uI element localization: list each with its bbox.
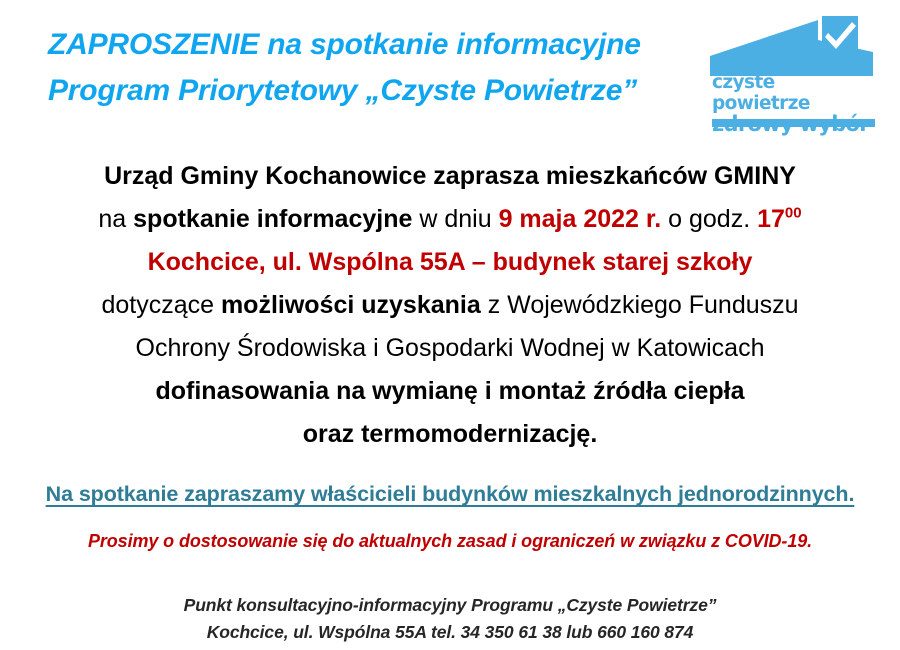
- body-line-2-hour-minutes: 00: [785, 205, 802, 222]
- body-line-2-hour: 17: [757, 205, 785, 233]
- house-roof-with-checkmark-icon: [710, 16, 875, 76]
- body-line-5: Ochrony Środowiska i Gospodarki Wodnej w…: [0, 327, 900, 370]
- body-line-2-part-3: w dniu: [412, 205, 498, 233]
- footer-line-1: Punkt konsultacyjno-informacyjny Program…: [0, 592, 900, 619]
- poster-title-line-1: ZAPROSZENIE na spotkanie informacyjne: [48, 22, 641, 68]
- body-line-3-venue: Kochcice, ul. Wspólna 55A – budynek star…: [0, 241, 900, 284]
- body-line-2-part-1: na: [98, 205, 133, 233]
- header-title-group: ZAPROSZENIE na spotkanie informacyjne Pr…: [0, 14, 641, 114]
- covid-note-text: Prosimy o dostosowanie się do aktualnych…: [88, 531, 812, 551]
- body-line-4-part-3: z Wojewódzkiego Funduszu: [481, 291, 799, 319]
- body-line-1: Urząd Gminy Kochanowice zaprasza mieszka…: [0, 155, 900, 198]
- body-line-6: dofinasowania na wymianę i montaż źródła…: [0, 370, 900, 413]
- invitation-poster: ZAPROSZENIE na spotkanie informacyjne Pr…: [0, 0, 900, 650]
- body-line-2: na spotkanie informacyjne w dniu 9 maja …: [0, 198, 900, 241]
- poster-body: Urząd Gminy Kochanowice zaprasza mieszka…: [0, 155, 900, 456]
- logo-underline-bar: [712, 119, 875, 127]
- notice-block: Na spotkanie zapraszamy właścicieli budy…: [0, 482, 900, 507]
- body-line-7: oraz termomodernizację.: [0, 413, 900, 456]
- notice-text: Na spotkanie zapraszamy właścicieli budy…: [46, 482, 855, 507]
- body-line-2-part-5: o godz.: [661, 205, 757, 233]
- body-line-2-part-2: spotkanie informacyjne: [133, 205, 412, 233]
- poster-header: ZAPROSZENIE na spotkanie informacyjne Pr…: [0, 14, 900, 139]
- poster-title-line-2: Program Priorytetowy „Czyste Powietrze”: [48, 68, 641, 114]
- covid-note-block: Prosimy o dostosowanie się do aktualnych…: [0, 531, 900, 552]
- footer-line-2: Kochcice, ul. Wspólna 55A tel. 34 350 61…: [0, 619, 900, 646]
- body-line-4: dotyczące możliwości uzyskania z Wojewód…: [0, 284, 900, 327]
- body-line-4-part-2: możliwości uzyskania: [221, 291, 481, 319]
- body-line-4-part-1: dotyczące: [101, 291, 221, 319]
- logo-text-line-1: czyste powietrze: [712, 72, 875, 114]
- poster-footer: Punkt konsultacyjno-informacyjny Program…: [0, 592, 900, 646]
- body-line-2-date: 9 maja 2022 r.: [499, 205, 662, 233]
- czyste-powietrze-logo: czyste powietrze zdrowy wybór: [702, 16, 882, 136]
